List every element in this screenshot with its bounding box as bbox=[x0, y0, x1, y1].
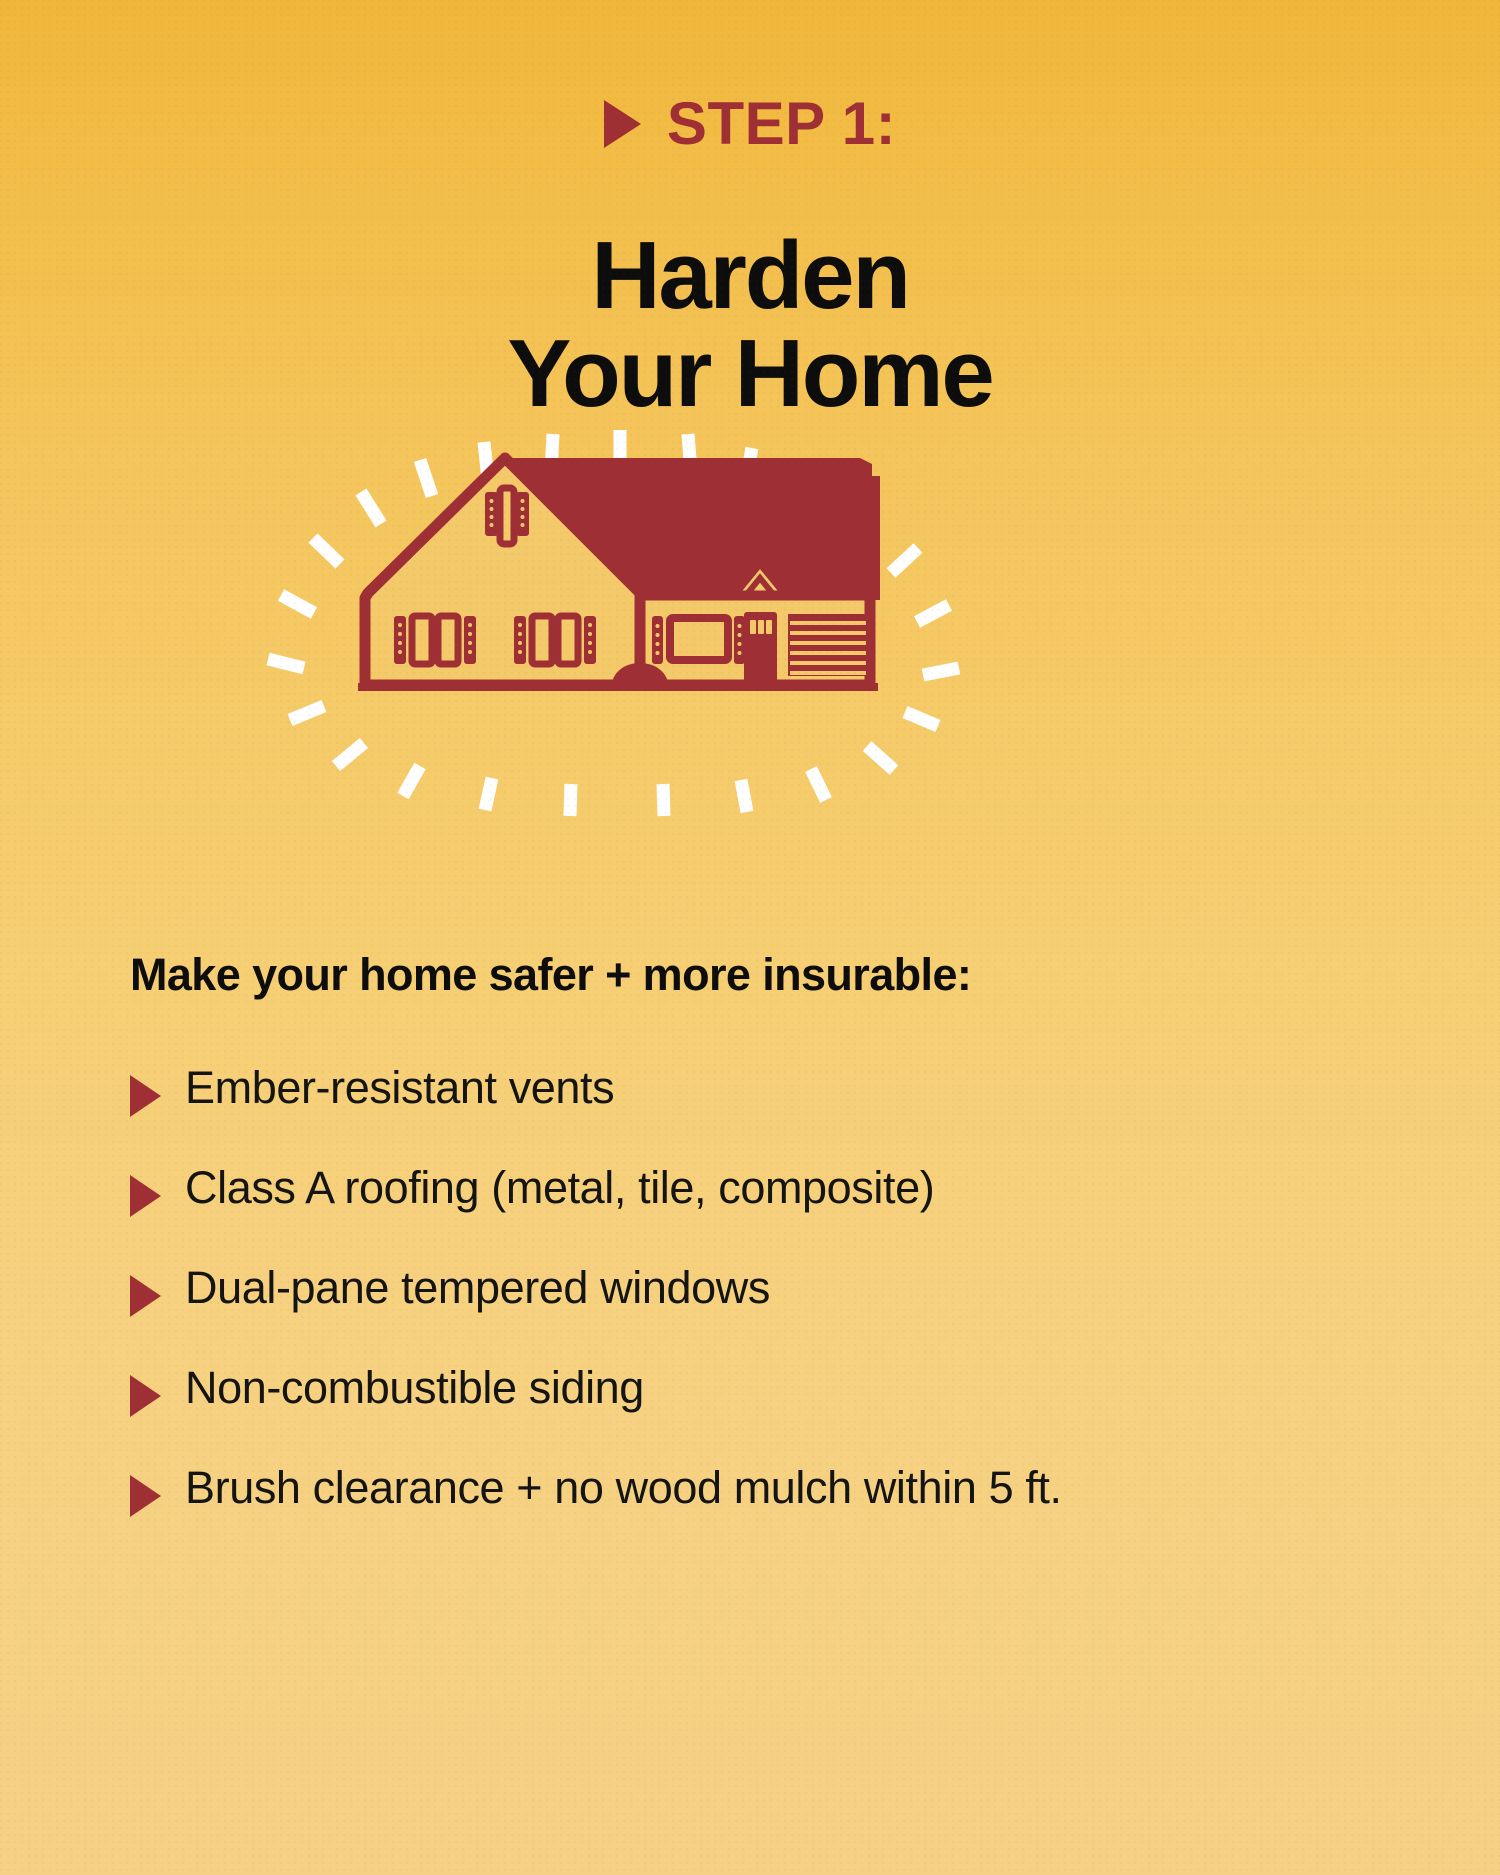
list-item-label: Non-combustible siding bbox=[185, 1362, 644, 1414]
list-item-label: Dual-pane tempered windows bbox=[185, 1262, 770, 1314]
triangle-right-icon bbox=[130, 1475, 161, 1517]
list-item: Class A roofing (metal, tile, composite) bbox=[130, 1162, 1450, 1262]
title-line-1: Harden bbox=[0, 227, 1500, 325]
step-header: STEP 1: bbox=[0, 94, 1500, 154]
list-item: Brush clearance + no wood mulch within 5… bbox=[130, 1462, 1450, 1562]
triangle-right-icon bbox=[130, 1375, 161, 1417]
front-door bbox=[744, 612, 777, 685]
list-item-label: Ember-resistant vents bbox=[185, 1062, 614, 1114]
list-item-label: Class A roofing (metal, tile, composite) bbox=[185, 1162, 934, 1214]
garage-door bbox=[788, 614, 868, 676]
triangle-right-icon bbox=[130, 1275, 161, 1317]
page-title: Harden Your Home bbox=[0, 227, 1500, 423]
list-item: Non-combustible siding bbox=[130, 1362, 1450, 1462]
hardened-house-illustration bbox=[260, 430, 1020, 820]
triangle-right-icon bbox=[130, 1175, 161, 1217]
poster-canvas: STEP 1: Harden Your Home bbox=[0, 0, 1500, 1875]
section-subhead: Make your home safer + more insurable: bbox=[130, 950, 1390, 1000]
step-label: STEP 1: bbox=[667, 94, 896, 154]
list-item: Dual-pane tempered windows bbox=[130, 1262, 1450, 1362]
feature-list: Ember-resistant vents Class A roofing (m… bbox=[130, 1062, 1450, 1562]
title-line-2: Your Home bbox=[0, 325, 1500, 423]
list-item: Ember-resistant vents bbox=[130, 1062, 1450, 1162]
list-item-label: Brush clearance + no wood mulch within 5… bbox=[185, 1462, 1062, 1514]
triangle-right-icon bbox=[604, 100, 641, 148]
triangle-right-icon bbox=[130, 1075, 161, 1117]
